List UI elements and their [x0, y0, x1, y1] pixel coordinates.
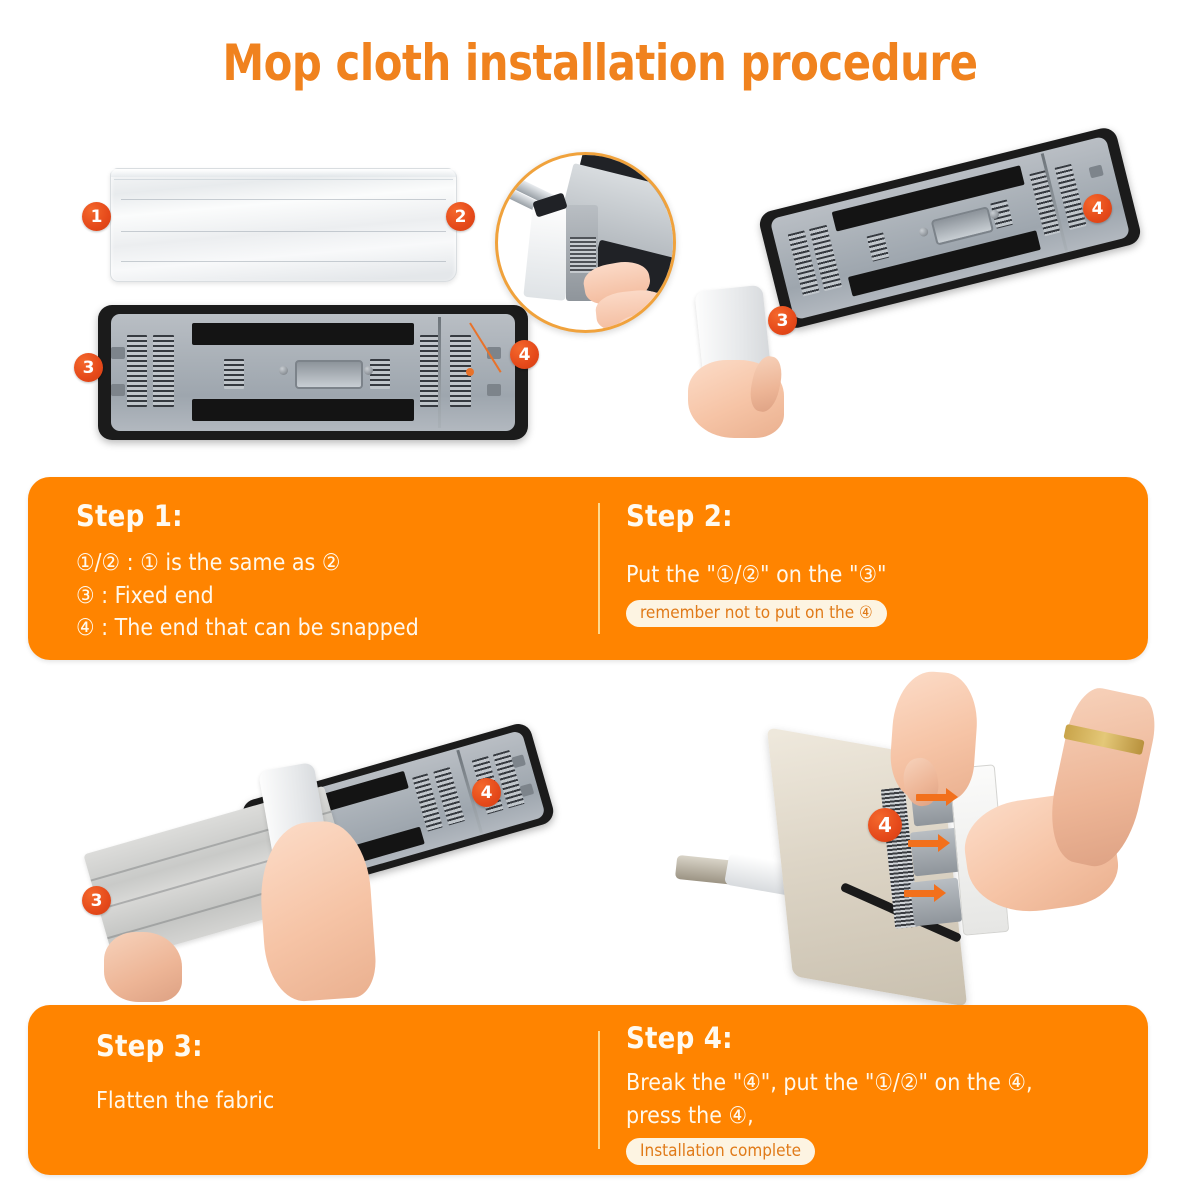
clip-vent-comb: [570, 237, 596, 273]
press-arrow: [908, 834, 966, 852]
badge-4: 4: [868, 808, 902, 842]
infographic-root: Mop cloth installation procedure 1 2: [0, 0, 1200, 1200]
clip-notch: [487, 384, 501, 396]
vent-slot: [127, 335, 147, 407]
velcro-strip-bottom: [192, 399, 414, 421]
photo-snap-end: 4: [660, 680, 1140, 1000]
page-title: Mop cloth installation procedure: [42, 34, 1158, 92]
badge-2: 2: [446, 202, 475, 231]
clip-notch: [111, 384, 125, 396]
plate-inner-surface: [770, 136, 1131, 320]
clip-notch: [511, 754, 526, 768]
snap-clip-seam: [438, 317, 441, 428]
step-2-title: Step 2:: [626, 499, 1128, 533]
bracket-screw: [918, 226, 929, 237]
vent-slot: [866, 232, 889, 262]
vent-slot: [224, 359, 244, 389]
step-4-line-2: press the ④,: [626, 1100, 1128, 1133]
clip-notch: [1088, 165, 1103, 179]
arrow-head: [938, 834, 950, 852]
velcro-strip-top: [192, 323, 414, 345]
bracket-screw: [364, 366, 373, 375]
badge-3: 3: [768, 306, 797, 335]
step-1-line-2: ③ : Fixed end: [76, 580, 568, 613]
badge-3-label: 3: [83, 358, 95, 378]
badge-4-label: 4: [1092, 199, 1104, 219]
step-2-panel: Step 2: Put the "①/②" on the "③" remembe…: [568, 477, 1128, 660]
photo-parts-overview: 1 2: [70, 150, 570, 450]
badge-4-label: 4: [481, 783, 493, 803]
plate-inner-surface: [111, 314, 515, 430]
cloth-top-edge: [111, 169, 456, 177]
cloth-seam: [121, 199, 445, 200]
cloth-seam: [121, 261, 445, 262]
arrow-head: [946, 788, 958, 806]
arrow-bar: [916, 794, 948, 801]
step-3-line-1: Flatten the fabric: [96, 1085, 568, 1118]
mop-plate-tilted: [757, 125, 1143, 330]
badge-1: 1: [82, 202, 111, 231]
step-1-line-1: ①/② : ① is the same as ②: [76, 547, 568, 580]
arrow-head: [934, 884, 946, 902]
step-1-line-3: ④ : The end that can be snapped: [76, 612, 568, 645]
step-3-panel: Step 3: Flatten the fabric: [28, 1005, 568, 1175]
callout-leader-dot: [466, 368, 474, 376]
forearm: [1041, 683, 1162, 873]
step-2-note-badge: remember not to put on the ④: [626, 600, 887, 627]
step-4-line-1: Break the "④", put the "①/②" on the ④,: [626, 1067, 1128, 1100]
step-card-top: Step 1: ①/② : ① is the same as ② ③ : Fix…: [28, 477, 1148, 660]
vent-slot: [370, 359, 390, 389]
press-arrow: [904, 884, 962, 902]
photo-flatten-fabric: 3 4: [80, 720, 540, 1000]
badge-4: 4: [1083, 194, 1112, 223]
press-arrow: [916, 788, 974, 806]
badge-1-label: 1: [91, 207, 103, 227]
step-3-title: Step 3:: [96, 1029, 568, 1063]
mop-cloth-pad: [110, 168, 457, 282]
step-2-line-1: Put the "①/②" on the "③": [626, 559, 1128, 592]
arrow-bar: [908, 840, 940, 847]
step-1-title: Step 1:: [76, 499, 568, 533]
cloth-seam: [114, 179, 452, 180]
step-1-panel: Step 1: ①/② : ① is the same as ② ③ : Fix…: [28, 477, 568, 660]
badge-4: 4: [510, 340, 539, 369]
snap-clip-closeup-inset: [495, 152, 676, 333]
mount-bracket: [930, 206, 994, 246]
badge-3: 3: [82, 886, 111, 915]
step-card-bottom: Step 3: Flatten the fabric Step 4: Break…: [28, 1005, 1148, 1175]
badge-3-label: 3: [91, 891, 103, 911]
finger-pressing: [618, 315, 676, 333]
badge-3-label: 3: [777, 311, 789, 331]
photo-place-cloth-on-fixed-end: 3 4: [680, 150, 1140, 440]
step-4-panel: Step 4: Break the "④", put the "①/②" on …: [568, 1005, 1128, 1175]
badge-4: 4: [472, 778, 501, 807]
supporting-hand: [104, 932, 182, 1002]
badge-3: 3: [74, 353, 103, 382]
clip-notch: [520, 783, 535, 797]
cloth-seam: [121, 231, 445, 232]
badge-4-label: 4: [519, 345, 531, 365]
vent-slot: [153, 335, 173, 407]
arrow-bar: [904, 890, 936, 897]
bracket-screw: [279, 366, 288, 375]
badge-2-label: 2: [455, 207, 467, 227]
step-4-title: Step 4:: [626, 1021, 1128, 1055]
mount-bracket: [295, 360, 364, 390]
step-4-note-badge: Installation complete: [626, 1138, 815, 1165]
badge-4-label: 4: [878, 813, 892, 837]
mop-plate-flat: [98, 305, 528, 440]
vent-slot: [420, 335, 440, 407]
clip-notch: [111, 347, 125, 359]
